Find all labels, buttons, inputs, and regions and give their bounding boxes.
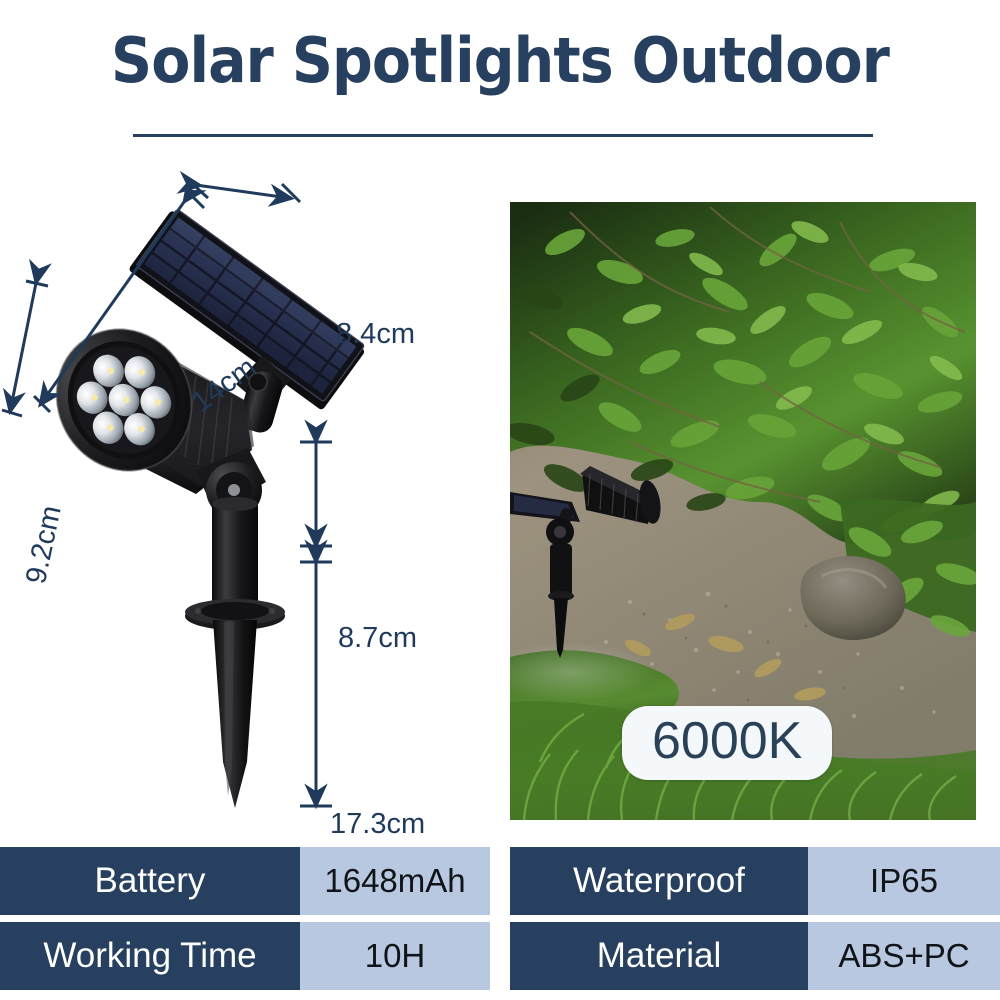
- spec-value-working-time: 10H: [300, 922, 490, 990]
- table-row: Working Time 10H: [0, 922, 490, 990]
- ground-stake: [213, 620, 257, 808]
- spec-value-waterproof: IP65: [808, 847, 1000, 915]
- spec-label-material: Material: [510, 922, 808, 990]
- spec-value-battery: 1648mAh: [300, 847, 490, 915]
- dimension-label-stake: 17.3cm: [330, 808, 425, 841]
- page-title: Solar Spotlights Outdoor: [40, 26, 960, 96]
- title-divider: [133, 134, 873, 137]
- spec-label-battery: Battery: [0, 847, 300, 915]
- color-temperature-badge: 6000K: [622, 706, 832, 780]
- spec-label-working-time: Working Time: [0, 922, 300, 990]
- dim-line-panel-width: [188, 180, 300, 202]
- table-row: Material ABS+PC: [510, 922, 1000, 990]
- header: Solar Spotlights Outdoor: [0, 26, 1000, 96]
- product-infographic: Solar Spotlights Outdoor: [0, 0, 1000, 1000]
- diagram-svg: [0, 150, 500, 840]
- spec-label-waterproof: Waterproof: [510, 847, 808, 915]
- mounting-post: [212, 497, 258, 614]
- specifications-table: Battery 1648mAh Working Time 10H Waterpr…: [0, 847, 1000, 1000]
- dim-line-body: [300, 442, 332, 546]
- spec-value-material: ABS+PC: [808, 922, 1000, 990]
- dim-line-stake: [300, 562, 332, 806]
- dimension-label-panel-width: 8.4cm: [336, 318, 415, 351]
- solar-spotlight-dimension-diagram: 8.4cm 14cm 9.2cm 8.7cm 17.3cm: [0, 150, 500, 840]
- table-row: Battery 1648mAh: [0, 847, 490, 915]
- table-row: Waterproof IP65: [510, 847, 1000, 915]
- dim-line-head: [2, 281, 48, 416]
- dimension-label-body: 8.7cm: [338, 622, 417, 655]
